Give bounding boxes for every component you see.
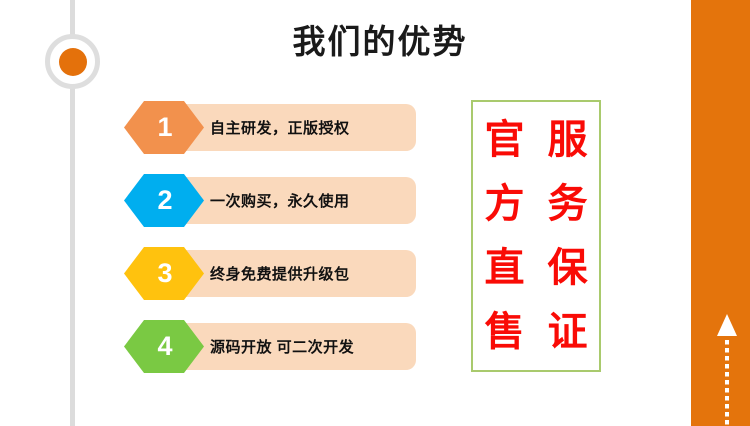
- dotted-line-decoration: [725, 340, 729, 426]
- advantage-label: 一次购买，永久使用: [210, 174, 350, 227]
- advantage-label: 源码开放 可二次开发: [210, 320, 354, 373]
- slogan-row: 售 证: [473, 300, 599, 364]
- slogan-char: 证: [545, 312, 591, 352]
- advantage-number: 3: [155, 260, 172, 287]
- advantage-number: 2: [155, 187, 172, 214]
- timeline-node-marker: [45, 34, 100, 89]
- slogan-char: 官: [482, 120, 528, 160]
- list-item[interactable]: 1 自主研发，正版授权: [124, 101, 416, 154]
- list-item[interactable]: 4 源码开放 可二次开发: [124, 320, 416, 373]
- slogan-char: 务: [545, 184, 591, 224]
- arrow-up-icon: [717, 314, 737, 336]
- advantage-number: 1: [155, 114, 172, 141]
- list-item[interactable]: 3 终身免费提供升级包: [124, 247, 416, 300]
- slogan-char: 直: [482, 248, 528, 288]
- advantage-label: 自主研发，正版授权: [210, 101, 350, 154]
- slogan-char: 服: [545, 120, 591, 160]
- advantage-list: 1 自主研发，正版授权 2 一次购买，永久使用 3 终身免费提供升级包 4 源码…: [124, 101, 416, 393]
- timeline-node-dot-icon: [59, 48, 87, 76]
- slogan-row: 官 服: [473, 108, 599, 172]
- slogan-box: 官 服 方 务 直 保 售 证: [471, 100, 601, 372]
- slogan-row: 方 务: [473, 172, 599, 236]
- advantage-label: 终身免费提供升级包: [210, 247, 350, 300]
- advantage-number: 4: [155, 333, 172, 360]
- right-accent-bar: [691, 0, 750, 426]
- slogan-char: 保: [545, 248, 591, 288]
- list-item[interactable]: 2 一次购买，永久使用: [124, 174, 416, 227]
- slogan-row: 直 保: [473, 236, 599, 300]
- slide-canvas: 我们的优势 1 自主研发，正版授权 2 一次购买，永久使用 3 终身免费提供升级…: [0, 0, 750, 426]
- page-title: 我们的优势: [180, 22, 580, 62]
- slogan-char: 方: [482, 184, 528, 224]
- slogan-char: 售: [482, 312, 528, 352]
